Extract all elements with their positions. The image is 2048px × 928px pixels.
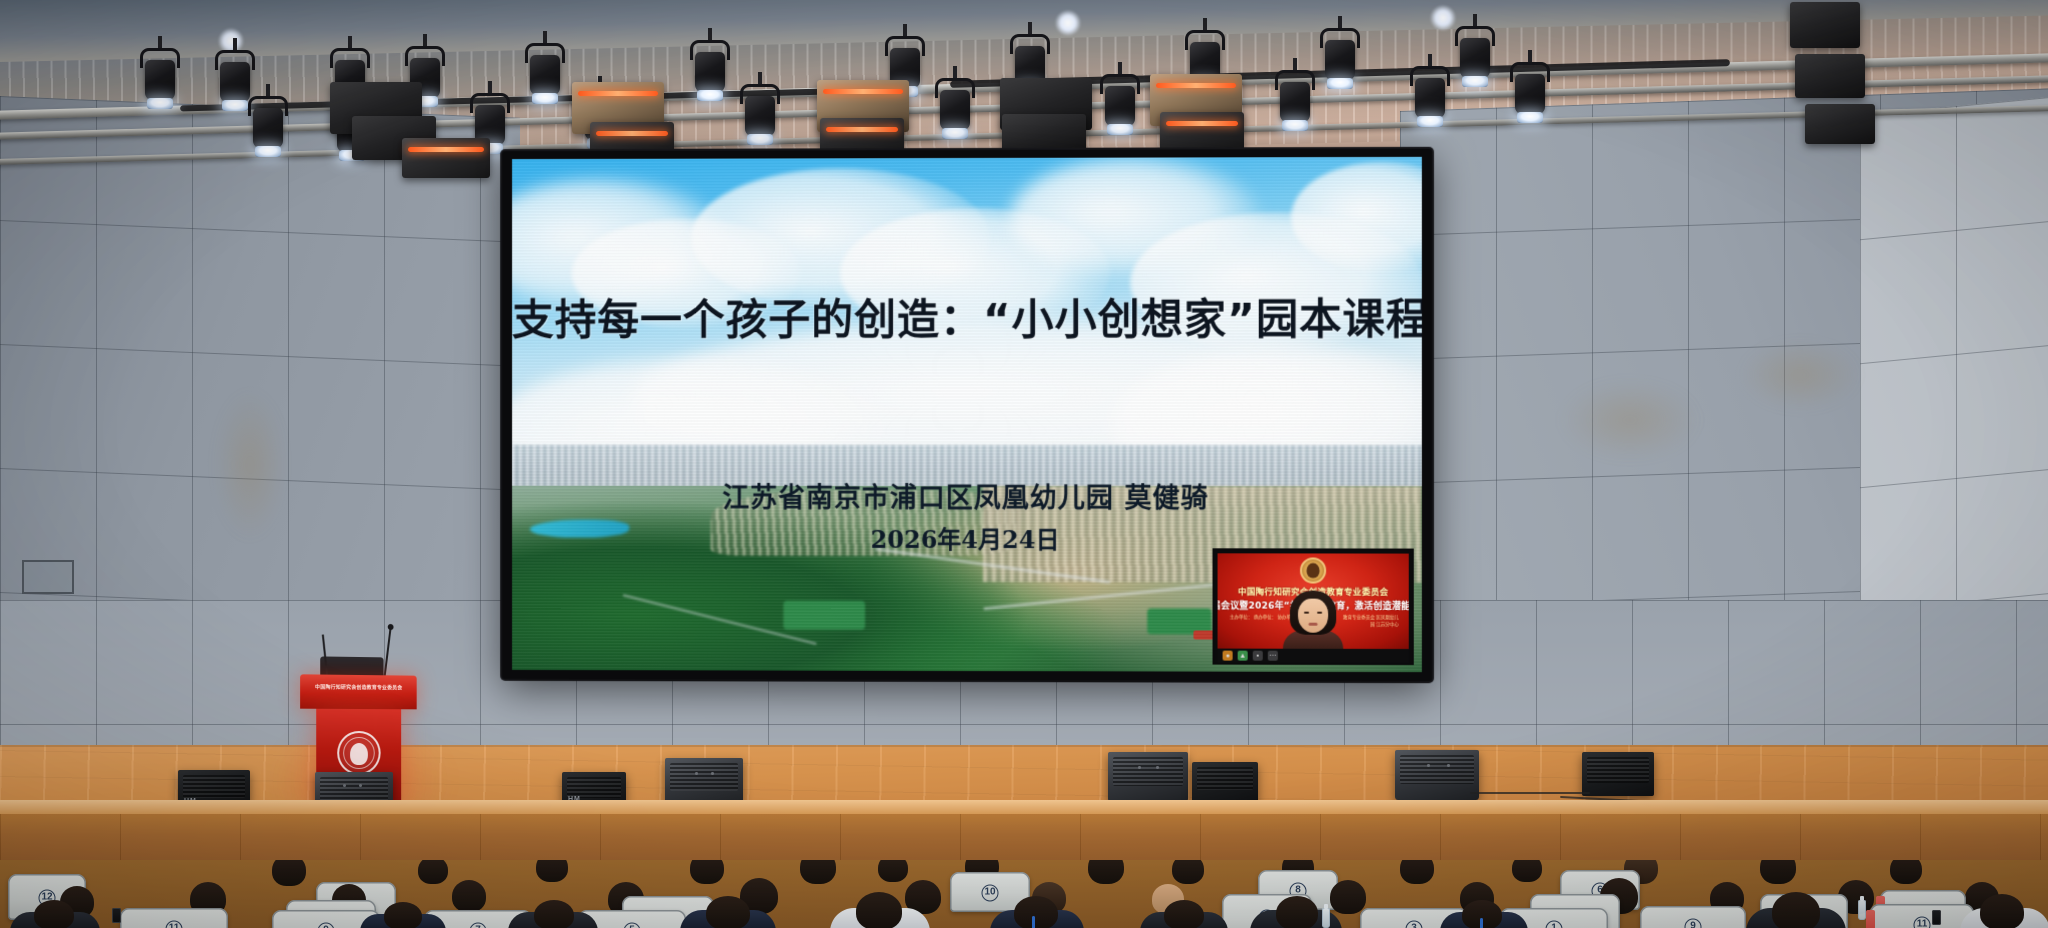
seat-near-1[interactable]: 11	[120, 908, 228, 928]
light-body	[1325, 40, 1355, 80]
monitor-grille	[567, 777, 621, 798]
audience-head-n1	[34, 900, 74, 928]
seat-number: 5	[624, 922, 641, 928]
audience-head-f15	[1890, 860, 1922, 884]
seat-near-7[interactable]: 9	[1640, 906, 1746, 928]
seat-number: 7	[470, 922, 487, 928]
monitor-bolt	[343, 784, 346, 787]
blinder-tube	[408, 147, 484, 152]
audience-area: 12 10 8 6 10 8	[0, 860, 2048, 928]
monitor-bolt	[359, 784, 362, 787]
blinder-fixture-13	[1795, 54, 1865, 98]
monitor-grille	[1197, 767, 1253, 790]
audience-head-f8	[1088, 860, 1124, 884]
light-body	[695, 52, 725, 92]
monitor-grille	[1587, 757, 1649, 783]
podium-banner-text: 中国陶行知研究会创造教育专业委员会	[308, 684, 409, 692]
monitor-bolt	[1138, 766, 1141, 769]
audience-head-n3	[534, 900, 574, 928]
slide-title: 支持每一个孩子的创造：“小小创想家”园本课程建构	[512, 285, 1422, 347]
seat-number: 1	[1546, 920, 1563, 928]
seat-number: 11	[1914, 916, 1931, 928]
pip-toolbar[interactable]: ● ▲ ▪ ⋯	[1218, 649, 1409, 663]
audience-head-n11	[1980, 894, 2024, 928]
light-body	[145, 60, 175, 100]
monitor-grille	[183, 775, 245, 798]
blinder-tube	[578, 91, 658, 96]
light-lens	[1327, 78, 1353, 89]
blinder-fixture-14	[1805, 104, 1875, 144]
light-lens	[942, 128, 968, 139]
light-body	[1280, 82, 1310, 122]
audience-head-n5	[856, 892, 902, 928]
audience-head-n6	[1014, 896, 1058, 928]
ceiling-downlight-3	[1430, 5, 1456, 31]
wall-access-panel	[22, 560, 74, 594]
wall-smudge-3	[1740, 340, 1860, 410]
wall-smudge-2	[1560, 380, 1700, 460]
light-body	[1460, 38, 1490, 78]
water-bottle-1	[1322, 908, 1330, 928]
audience-head-m4	[452, 880, 486, 912]
monitor-grille	[320, 777, 388, 801]
podium-top: 中国陶行知研究会创造教育专业委员会	[300, 674, 417, 709]
light-lens	[1517, 112, 1543, 123]
chat-icon[interactable]: ▪	[1253, 651, 1263, 661]
stage-monitor-8	[1582, 752, 1654, 796]
pip-speaker-eye-right	[1317, 612, 1322, 614]
seat-number: 9	[318, 922, 335, 928]
blinder-fixture-3	[402, 138, 490, 178]
light-body	[745, 96, 775, 136]
pip-video-window[interactable]: 中国陶行知研究会创造教育专业委员会 届会议暨2026年“扎根生活教育，激活创造潜…	[1215, 550, 1412, 663]
audience-head-m10	[1330, 880, 1366, 914]
auditorium-scene: 支持每一个孩子的创造：“小小创想家”园本课程建构 江苏省南京市浦口区凤凰幼儿园 …	[0, 0, 2048, 928]
audience-head-n10	[1772, 892, 1820, 928]
pip-speaker-face	[1298, 599, 1328, 633]
audience-head-f5	[800, 860, 836, 884]
monitor-grille	[1400, 755, 1474, 784]
blinder-tube	[596, 131, 668, 136]
wall-smudge-1	[215, 390, 285, 540]
audience-lanyard-1	[1032, 916, 1035, 928]
seat-number: 11	[166, 920, 183, 928]
light-lens	[1107, 124, 1133, 135]
tao-xingzhi-emblem-icon	[337, 731, 380, 775]
light-lens	[747, 134, 773, 145]
stage-monitor-6	[1192, 762, 1258, 802]
blinder-tube	[823, 89, 903, 94]
light-body	[1415, 78, 1445, 118]
audience-lanyard-2	[1480, 918, 1483, 928]
pip-speaker-eye-left	[1304, 612, 1309, 614]
seat-ribbon-marker	[1866, 910, 1875, 928]
blinder-fixture-11	[1160, 112, 1244, 152]
light-body	[1515, 74, 1545, 114]
pip-speaker-avatar	[1282, 591, 1344, 649]
monitor-bolt	[1156, 766, 1159, 769]
light-body	[1105, 86, 1135, 126]
monitor-grille	[1113, 757, 1183, 786]
seat-number: 9	[1685, 918, 1702, 928]
blinder-tube	[1156, 83, 1236, 88]
share-screen-icon[interactable]: ▲	[1238, 651, 1248, 661]
slide-presenter: 江苏省南京市浦口区凤凰幼儿园 莫健骑	[512, 476, 1422, 516]
stage-monitor-5	[1108, 752, 1188, 802]
seat-near-8[interactable]: 11	[1870, 904, 1974, 928]
light-lens	[255, 146, 281, 157]
pip-video-feed: 中国陶行知研究会创造教育专业委员会 届会议暨2026年“扎根生活教育，激活创造潜…	[1218, 553, 1409, 649]
monitor-bolt	[1427, 764, 1430, 767]
pip-emblem-icon	[1300, 557, 1326, 583]
more-icon[interactable]: ⋯	[1268, 651, 1278, 661]
blinder-tube	[826, 127, 898, 132]
light-body	[220, 62, 250, 102]
audience-head-f6	[878, 860, 908, 882]
audience-head-n4	[706, 896, 750, 928]
led-screen[interactable]: 支持每一个孩子的创造：“小小创想家”园本课程建构 江苏省南京市浦口区凤凰幼儿园 …	[502, 149, 1432, 681]
audience-head-n7	[1164, 900, 1204, 928]
smartphone-2[interactable]	[1932, 910, 1941, 925]
seat-number: 3	[1406, 920, 1423, 928]
audience-head-f14	[1760, 860, 1796, 884]
pip-credits-right: 教育专业委员会 区凤凰幼儿园 江苏分中心	[1340, 614, 1398, 628]
stage-monitor-4	[665, 758, 743, 806]
monitor-bolt	[1447, 764, 1450, 767]
monitor-bolt	[695, 772, 698, 775]
light-lens	[1417, 116, 1443, 127]
stage-lip	[0, 800, 2048, 814]
light-lens	[1462, 76, 1488, 87]
audience-head-f11	[1400, 860, 1434, 884]
stage-monitor-7	[1395, 750, 1479, 800]
audience-head-f9	[1172, 860, 1204, 884]
pip-speaker-mouth	[1309, 623, 1318, 626]
blinder-fixture-12	[1790, 2, 1860, 48]
audience-head-f1	[272, 860, 306, 886]
water-bottle-2	[1858, 900, 1866, 920]
stage-cable-3	[1470, 792, 1590, 794]
blinder-tube	[1166, 121, 1238, 126]
audience-head-f4	[690, 860, 724, 884]
light-lens	[1282, 120, 1308, 131]
light-lens	[532, 93, 558, 104]
light-body	[253, 108, 283, 148]
ceiling-downlight-2	[1055, 10, 1081, 36]
audience-head-n2	[384, 902, 422, 928]
audience-head-f3	[536, 860, 568, 882]
light-lens	[147, 98, 173, 109]
monitor-grille	[670, 763, 738, 791]
led-screen-display: 支持每一个孩子的创造：“小小创想家”园本课程建构 江苏省南京市浦口区凤凰幼儿园 …	[512, 157, 1422, 672]
light-body	[530, 55, 560, 95]
participants-icon[interactable]: ●	[1223, 651, 1233, 661]
light-body	[940, 90, 970, 130]
light-lens	[222, 100, 248, 111]
monitor-bolt	[711, 772, 714, 775]
smartphone-1[interactable]	[112, 908, 121, 923]
audience-head-n8	[1276, 896, 1318, 928]
audience-head-f12	[1512, 860, 1542, 882]
light-lens	[697, 90, 723, 101]
audience-head-f2	[418, 860, 448, 884]
aerial-field-1	[783, 600, 865, 630]
seat-number: 10	[982, 884, 999, 901]
